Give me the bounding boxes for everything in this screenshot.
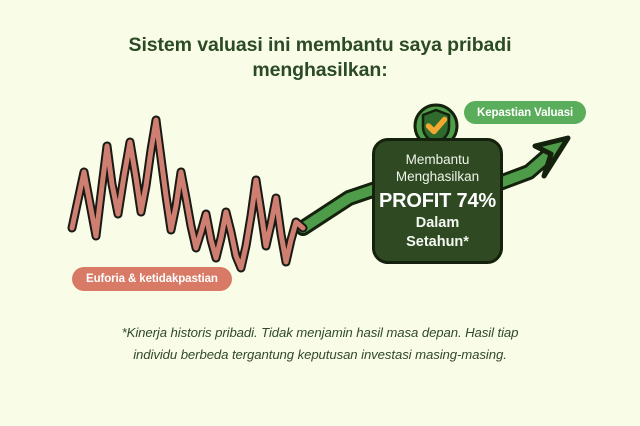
infographic-canvas: Sistem valuasi ini membantu saya pribadi… — [0, 0, 640, 426]
badge-euforia-label: Euforia & ketidakpastian — [86, 273, 218, 285]
profit-card[interactable]: Membantu Menghasilkan PROFIT 74% Dalam S… — [372, 138, 503, 264]
disclaimer-line-2: individu berbeda tergantung keputusan in… — [62, 344, 578, 366]
disclaimer-footnote: *Kinerja historis pribadi. Tidak menjami… — [62, 322, 578, 366]
badge-kepastian-valuasi-label: Kepastian Valuasi — [477, 107, 573, 119]
profit-card-line-2: Menghasilkan — [396, 168, 479, 185]
profit-card-line-3: Dalam — [416, 214, 460, 233]
disclaimer-line-1: *Kinerja historis pribadi. Tidak menjami… — [62, 322, 578, 344]
profit-card-line-1: Membantu — [406, 151, 470, 168]
volatile-price-line — [72, 120, 303, 268]
profit-card-line-4: Setahun* — [406, 233, 469, 252]
badge-kepastian-valuasi[interactable]: Kepastian Valuasi — [464, 101, 586, 124]
profit-card-value: PROFIT 74% — [379, 188, 496, 214]
badge-euforia-ketidakpastian[interactable]: Euforia & ketidakpastian — [72, 267, 232, 291]
